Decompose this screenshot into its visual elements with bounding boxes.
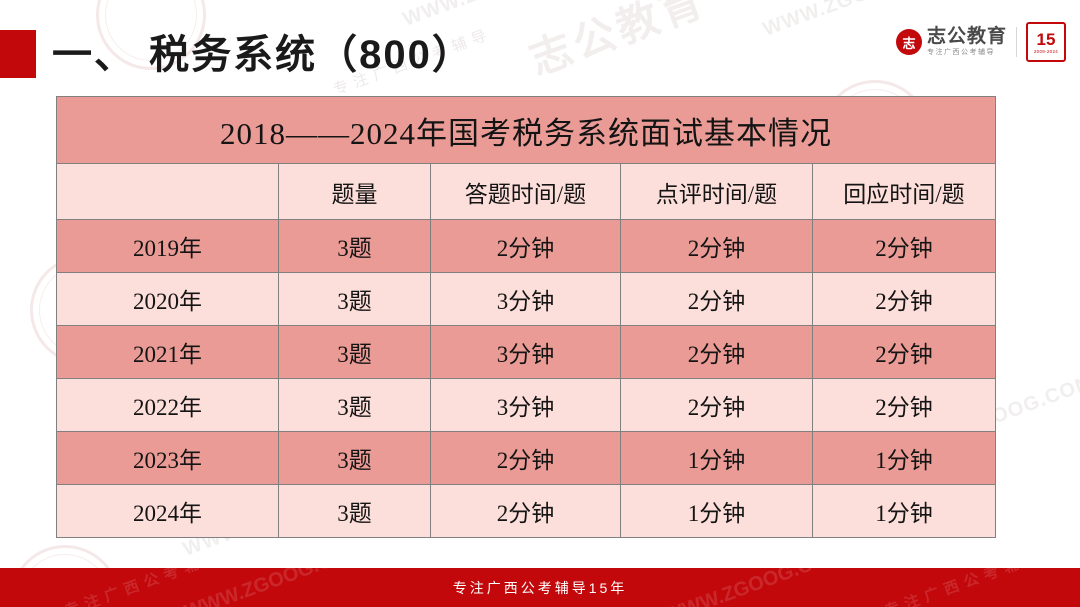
cell-year: 2021年	[57, 326, 279, 379]
table-row: 2022年 3题 3分钟 2分钟 2分钟	[57, 379, 996, 432]
table-row: 2019年 3题 2分钟 2分钟 2分钟	[57, 220, 996, 273]
slide-header: 一、 税务系统（800） 志 志公教育 专注广西公考辅导 15 2009-202…	[0, 0, 1080, 90]
cell-count: 3题	[279, 326, 431, 379]
cell-count: 3题	[279, 432, 431, 485]
page-title: 一、 税务系统（800）	[52, 22, 474, 80]
cell-comment-time: 2分钟	[621, 273, 813, 326]
footer-text: 专注广西公考辅导15年	[453, 578, 628, 598]
anniversary-number: 15	[1037, 31, 1056, 48]
logo-main: 志 志公教育 专注广西公考辅导	[896, 27, 1007, 56]
footer-watermark-tagline: 专注广西公考辅导	[881, 568, 1046, 607]
table-row: 2024年 3题 2分钟 1分钟 1分钟	[57, 485, 996, 538]
cell-count: 3题	[279, 485, 431, 538]
cell-comment-time: 1分钟	[621, 432, 813, 485]
cell-year: 2020年	[57, 273, 279, 326]
cell-answer-time: 3分钟	[431, 326, 621, 379]
cell-response-time: 1分钟	[813, 485, 996, 538]
table-row: 2023年 3题 2分钟 1分钟 1分钟	[57, 432, 996, 485]
cell-comment-time: 2分钟	[621, 379, 813, 432]
logo-seal-icon: 志	[896, 29, 922, 55]
footer-watermark-url: WWW.ZGOOG.COM	[662, 568, 846, 607]
slide-footer: WWW.ZGOOG.COM WWW.ZGOOG.COM 专注广西公考辅导 专注广…	[0, 568, 1080, 607]
interview-summary-table: 2018——2024年国考税务系统面试基本情况 题量 答题时间/题 点评时间/题…	[56, 96, 996, 538]
title-accent-bar	[0, 30, 36, 78]
cell-comment-time: 2分钟	[621, 326, 813, 379]
cell-response-time: 1分钟	[813, 432, 996, 485]
anniversary-years: 2009-2024	[1034, 49, 1058, 54]
footer-watermark-url: WWW.ZGOOG.COM	[182, 568, 366, 607]
cell-answer-time: 2分钟	[431, 485, 621, 538]
logo-divider	[1016, 27, 1017, 57]
logo-subtitle: 专注广西公考辅导	[927, 49, 1007, 56]
cell-year: 2019年	[57, 220, 279, 273]
column-header-response-time: 回应时间/题	[813, 164, 996, 220]
column-header-count: 题量	[279, 164, 431, 220]
table-header-row: 题量 答题时间/题 点评时间/题 回应时间/题	[57, 164, 996, 220]
brand-logo: 志 志公教育 专注广西公考辅导 15 2009-2024	[896, 22, 1066, 62]
logo-texts: 志公教育 专注广西公考辅导	[927, 27, 1007, 56]
logo-name: 志公教育	[927, 27, 1007, 47]
table-row: 2020年 3题 3分钟 2分钟 2分钟	[57, 273, 996, 326]
cell-response-time: 2分钟	[813, 220, 996, 273]
cell-year: 2023年	[57, 432, 279, 485]
table-row: 2021年 3题 3分钟 2分钟 2分钟	[57, 326, 996, 379]
cell-year: 2024年	[57, 485, 279, 538]
cell-response-time: 2分钟	[813, 379, 996, 432]
table-title-row: 2018——2024年国考税务系统面试基本情况	[57, 97, 996, 164]
cell-year: 2022年	[57, 379, 279, 432]
cell-count: 3题	[279, 379, 431, 432]
table-title: 2018——2024年国考税务系统面试基本情况	[57, 97, 996, 164]
cell-answer-time: 3分钟	[431, 273, 621, 326]
column-header-blank	[57, 164, 279, 220]
cell-response-time: 2分钟	[813, 326, 996, 379]
cell-response-time: 2分钟	[813, 273, 996, 326]
anniversary-badge: 15 2009-2024	[1026, 22, 1066, 62]
cell-answer-time: 2分钟	[431, 220, 621, 273]
cell-comment-time: 2分钟	[621, 220, 813, 273]
cell-answer-time: 3分钟	[431, 379, 621, 432]
column-header-answer-time: 答题时间/题	[431, 164, 621, 220]
cell-comment-time: 1分钟	[621, 485, 813, 538]
cell-count: 3题	[279, 220, 431, 273]
cell-answer-time: 2分钟	[431, 432, 621, 485]
table-container: 2018——2024年国考税务系统面试基本情况 题量 答题时间/题 点评时间/题…	[56, 96, 995, 538]
cell-count: 3题	[279, 273, 431, 326]
column-header-comment-time: 点评时间/题	[621, 164, 813, 220]
